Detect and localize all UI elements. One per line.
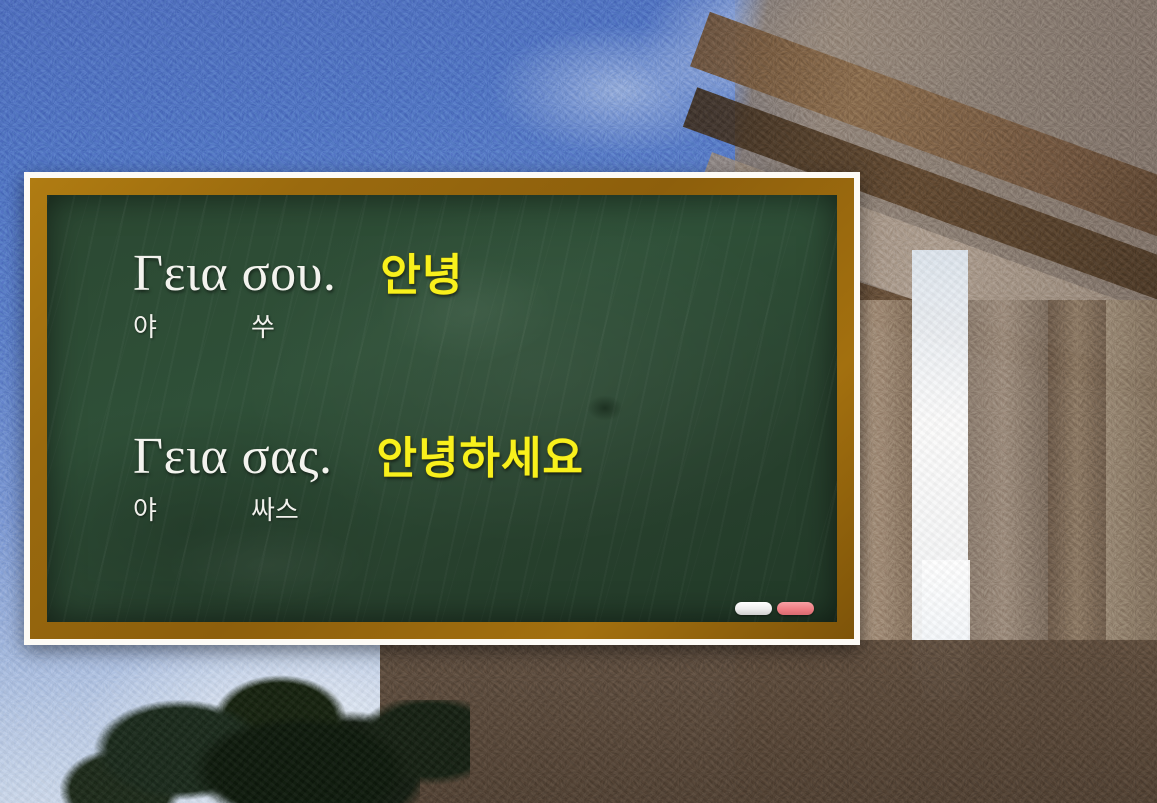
slide-stage: Γεια σου. 안녕 야 쑤 Γεια σας. 안녕하세요 [0, 0, 1157, 803]
chalkboard: Γεια σου. 안녕 야 쑤 Γεια σας. 안녕하세요 [24, 172, 860, 645]
pronunciation-2-b: 싸스 [251, 490, 299, 527]
pronunciation-2-a: 야 [133, 490, 251, 527]
lesson-line-1-main: Γεια σου. 안녕 [133, 239, 837, 303]
pink-chalk-stick[interactable] [777, 602, 814, 615]
korean-translation-2: 안녕하세요 [377, 422, 584, 486]
lesson-line-1-pronunciation: 야 쑤 [133, 307, 837, 344]
line-spacer [133, 344, 837, 422]
lesson-line-1: Γεια σου. 안녕 야 쑤 [133, 239, 837, 344]
greek-phrase-1: Γεια σου. [133, 244, 336, 303]
chalk-tray [735, 602, 814, 615]
lesson-line-2-main: Γεια σας. 안녕하세요 [133, 422, 837, 486]
lesson-content: Γεια σου. 안녕 야 쑤 Γεια σας. 안녕하세요 [47, 195, 837, 622]
greek-phrase-2: Γεια σας. [133, 427, 333, 486]
white-chalk-stick[interactable] [735, 602, 772, 615]
chalkboard-wood-frame: Γεια σου. 안녕 야 쑤 Γεια σας. 안녕하세요 [30, 178, 854, 639]
pronunciation-1-b: 쑤 [251, 307, 275, 344]
chalkboard-surface: Γεια σου. 안녕 야 쑤 Γεια σας. 안녕하세요 [47, 195, 837, 622]
pronunciation-1-a: 야 [133, 307, 251, 344]
lesson-line-2-pronunciation: 야 싸스 [133, 490, 837, 527]
korean-translation-1: 안녕 [380, 239, 463, 303]
lesson-line-2: Γεια σας. 안녕하세요 야 싸스 [133, 422, 837, 527]
